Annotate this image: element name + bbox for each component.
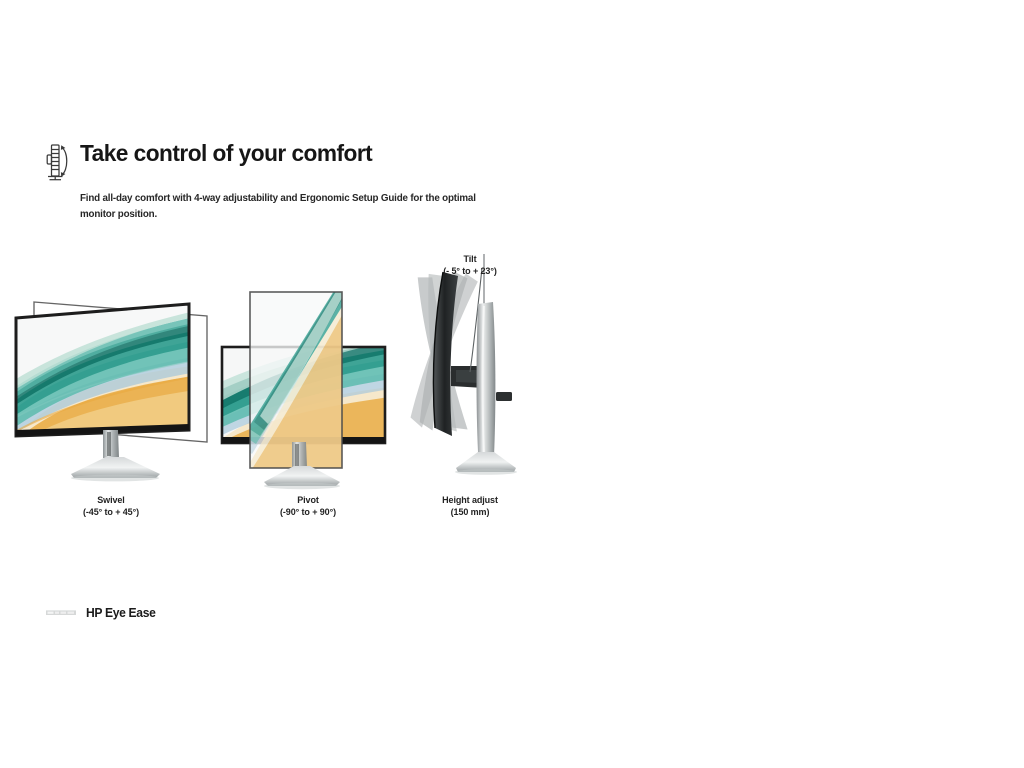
brand-label: HP Eye Ease bbox=[86, 606, 156, 620]
caption-swivel-range: (-45° to + 45°) bbox=[8, 507, 214, 519]
monitor-pivot-illustration bbox=[222, 246, 394, 488]
brand-lockup: HP Eye Ease bbox=[46, 606, 158, 620]
caption-swivel-title: Swivel bbox=[8, 495, 214, 507]
page-title: Take control of your comfort bbox=[80, 138, 372, 168]
caption-pivot-range: (-90° to + 90°) bbox=[222, 507, 394, 519]
caption-height-title: Height adjust bbox=[396, 495, 544, 507]
slide-canvas: Take control of your comfort Find all-da… bbox=[0, 0, 1024, 768]
caption-height-range: (150 mm) bbox=[396, 507, 544, 519]
header-block: Take control of your comfort Find all-da… bbox=[44, 138, 564, 222]
adjustability-figures: Tilt (- 5° to + 23°) Swivel (-45° to + 4… bbox=[0, 246, 1024, 536]
figure-swivel bbox=[8, 246, 214, 488]
monitor-tilt-illustration bbox=[396, 246, 544, 488]
headline-row: Take control of your comfort bbox=[44, 138, 564, 182]
monitor-swivel-illustration bbox=[8, 246, 214, 488]
figure-pivot bbox=[222, 246, 394, 488]
caption-pivot-title: Pivot bbox=[222, 495, 394, 507]
caption-tilt-range: (- 5° to + 23°) bbox=[396, 266, 544, 278]
caption-tilt: Tilt (- 5° to + 23°) bbox=[396, 254, 544, 277]
caption-pivot: Pivot (-90° to + 90°) bbox=[222, 495, 394, 518]
ergonomic-adjust-icon bbox=[44, 140, 74, 182]
hp-eye-ease-logo-mark bbox=[46, 606, 76, 620]
figure-tilt-height bbox=[396, 246, 544, 488]
caption-height-adjust: Height adjust (150 mm) bbox=[396, 495, 544, 518]
page-subtitle: Find all-day comfort with 4-way adjustab… bbox=[80, 191, 484, 222]
caption-tilt-title: Tilt bbox=[396, 254, 544, 266]
caption-swivel: Swivel (-45° to + 45°) bbox=[8, 495, 214, 518]
